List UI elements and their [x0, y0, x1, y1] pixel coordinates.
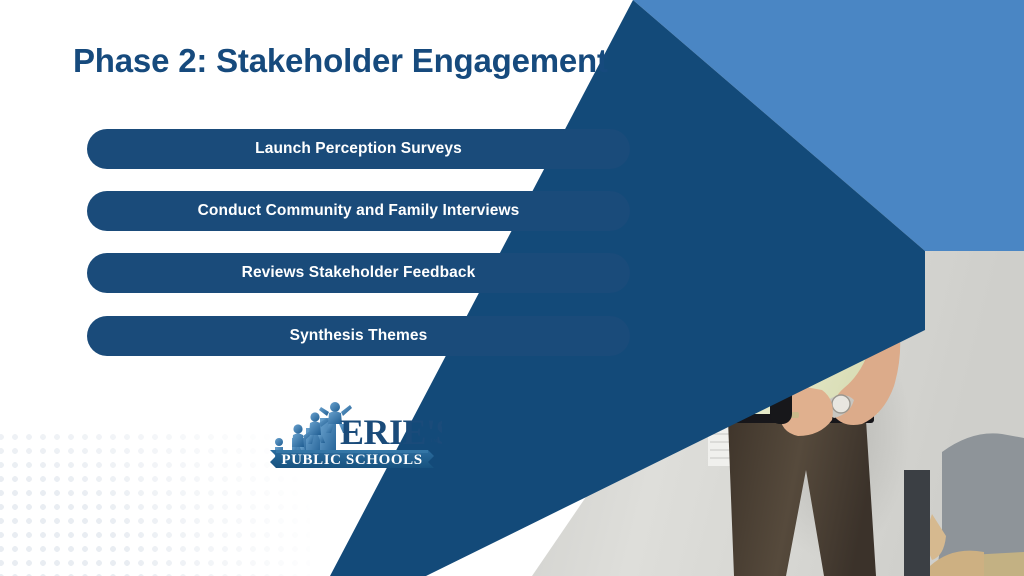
logo-banner: PUBLIC SCHOOLS [270, 450, 434, 468]
step-pill-3[interactable]: Reviews Stakeholder Feedback [87, 253, 630, 293]
logo-banner-text: PUBLIC SCHOOLS [281, 452, 422, 468]
eries-public-schools-logo: ERIE'S ™ PUBLIC SCHOOLS [262, 398, 442, 476]
step-pill-2[interactable]: Conduct Community and Family Interviews [87, 191, 630, 231]
step-pill-1-label: Launch Perception Surveys [255, 140, 462, 158]
step-pill-4-label: Synthesis Themes [290, 327, 428, 345]
logo-wordmark: ERIE'S [340, 412, 442, 452]
step-pill-1[interactable]: Launch Perception Surveys [87, 129, 630, 169]
page-title: Phase 2: Stakeholder Engagement [73, 42, 608, 80]
logo-trademark-icon: ™ [430, 437, 438, 446]
step-pill-4[interactable]: Synthesis Themes [87, 316, 630, 356]
slide-canvas: Phase 2: Stakeholder Engagement Launch P… [0, 0, 1024, 576]
steps-list: Launch Perception Surveys Conduct Commun… [87, 129, 630, 356]
step-pill-2-label: Conduct Community and Family Interviews [198, 202, 520, 220]
step-pill-3-label: Reviews Stakeholder Feedback [242, 264, 476, 282]
